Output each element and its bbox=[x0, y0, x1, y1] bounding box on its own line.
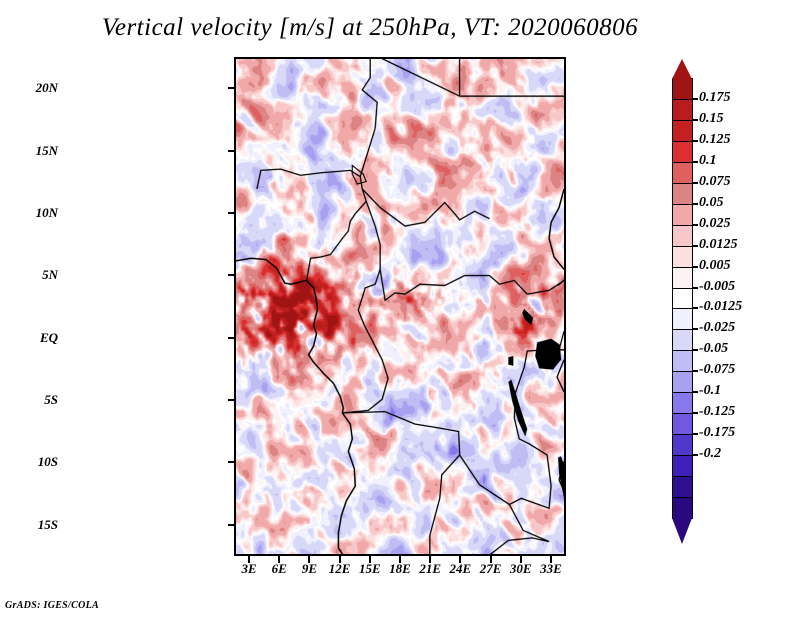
colorbar-tick bbox=[693, 224, 698, 226]
lon-label-33E: 33E bbox=[533, 561, 569, 577]
colorbar-label: -0.2 bbox=[699, 446, 721, 462]
colorbar-segment bbox=[672, 267, 693, 289]
lon-tick-3E bbox=[248, 556, 250, 563]
lat-tick-5N bbox=[228, 274, 235, 276]
colorbar-tick bbox=[693, 203, 698, 205]
map-plot-area bbox=[234, 57, 566, 556]
colorbar-segment bbox=[672, 434, 693, 456]
colorbar-segment bbox=[672, 120, 693, 142]
lat-tick-5S bbox=[228, 399, 235, 401]
colorbar-segment bbox=[672, 413, 693, 435]
colorbar-tick bbox=[693, 433, 698, 435]
colorbar-tick bbox=[693, 287, 698, 289]
colorbar-segment bbox=[672, 308, 693, 330]
colorbar-tick bbox=[693, 182, 698, 184]
lon-tick-9E bbox=[308, 556, 310, 563]
colorbar-tick bbox=[693, 98, 698, 100]
colorbar-label: 0.175 bbox=[699, 90, 731, 106]
colorbar-tick bbox=[693, 307, 698, 309]
lat-label-15N: 15N bbox=[36, 143, 58, 159]
colorbar-tick bbox=[693, 370, 698, 372]
grads-credit: GrADS: IGES/COLA bbox=[5, 600, 99, 611]
colorbar bbox=[672, 78, 693, 518]
colorbar-tick bbox=[693, 391, 698, 393]
lat-tick-EQ bbox=[228, 337, 235, 339]
lon-tick-33E bbox=[550, 556, 552, 563]
lon-tick-18E bbox=[399, 556, 401, 563]
page-title: Vertical velocity [m/s] at 250hPa, VT: 2… bbox=[0, 14, 740, 42]
lat-label-20N: 20N bbox=[36, 80, 58, 96]
lat-label-15S: 15S bbox=[38, 517, 58, 533]
colorbar-segment bbox=[672, 225, 693, 247]
colorbar-label: 0.075 bbox=[699, 174, 731, 190]
colorbar-label: 0.15 bbox=[699, 111, 724, 127]
lon-tick-24E bbox=[459, 556, 461, 563]
colorbar-segment bbox=[672, 371, 693, 393]
colorbar-tick bbox=[693, 454, 698, 456]
colorbar-segment bbox=[672, 78, 693, 100]
colorbar-label: 0.1 bbox=[699, 153, 717, 169]
lat-label-EQ: EQ bbox=[40, 330, 58, 346]
colorbar-segment bbox=[672, 288, 693, 310]
colorbar-label: -0.125 bbox=[699, 404, 735, 420]
colorbar-segment bbox=[672, 350, 693, 372]
colorbar-label: 0.025 bbox=[699, 216, 731, 232]
colorbar-segment bbox=[672, 329, 693, 351]
lon-tick-21E bbox=[429, 556, 431, 563]
colorbar-tick bbox=[693, 412, 698, 414]
colorbar-label: -0.0125 bbox=[699, 299, 742, 315]
colorbar-segment bbox=[672, 392, 693, 414]
lat-tick-10S bbox=[228, 461, 235, 463]
lon-tick-15E bbox=[369, 556, 371, 563]
colorbar-label: 0.125 bbox=[699, 132, 731, 148]
colorbar-tick bbox=[693, 328, 698, 330]
colorbar-segment bbox=[672, 246, 693, 268]
colorbar-label: -0.005 bbox=[699, 279, 735, 295]
lat-label-5S: 5S bbox=[44, 392, 58, 408]
colorbar-tick bbox=[693, 349, 698, 351]
colorbar-label: 0.0125 bbox=[699, 237, 738, 253]
colorbar-segment bbox=[672, 99, 693, 121]
colorbar-tick bbox=[693, 161, 698, 163]
colorbar-label: -0.025 bbox=[699, 320, 735, 336]
colorbar-segment bbox=[672, 141, 693, 163]
lat-label-10S: 10S bbox=[38, 454, 58, 470]
colorbar-tick bbox=[693, 119, 698, 121]
colorbar-label: -0.05 bbox=[699, 341, 728, 357]
colorbar-bottom-arrow bbox=[672, 518, 692, 544]
colorbar-label: 0.05 bbox=[699, 195, 724, 211]
colorbar-label: -0.1 bbox=[699, 383, 721, 399]
lat-tick-15S bbox=[228, 524, 235, 526]
lat-label-5N: 5N bbox=[42, 267, 58, 283]
lat-label-10N: 10N bbox=[36, 205, 58, 221]
colorbar-label: -0.075 bbox=[699, 362, 735, 378]
colorbar-segment bbox=[672, 183, 693, 205]
lat-tick-20N bbox=[228, 87, 235, 89]
colorbar-segment bbox=[672, 497, 693, 519]
vertical-velocity-heatmap bbox=[236, 59, 564, 554]
colorbar-label: 0.005 bbox=[699, 258, 731, 274]
colorbar-top-arrow bbox=[672, 59, 692, 79]
lon-tick-30E bbox=[520, 556, 522, 563]
colorbar-tick bbox=[693, 140, 698, 142]
colorbar-segment bbox=[672, 476, 693, 498]
colorbar-tick bbox=[693, 266, 698, 268]
colorbar-segment bbox=[672, 162, 693, 184]
lon-tick-6E bbox=[278, 556, 280, 563]
colorbar-label: -0.175 bbox=[699, 425, 735, 441]
colorbar-segment bbox=[672, 204, 693, 226]
colorbar-tick bbox=[693, 245, 698, 247]
lat-tick-15N bbox=[228, 150, 235, 152]
colorbar-segment bbox=[672, 455, 693, 477]
lat-tick-10N bbox=[228, 212, 235, 214]
lon-tick-27E bbox=[490, 556, 492, 563]
lon-tick-12E bbox=[339, 556, 341, 563]
